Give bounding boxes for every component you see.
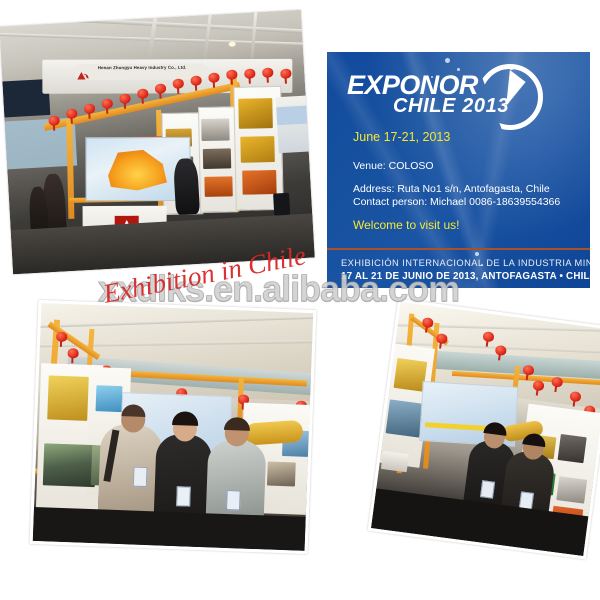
- photo-booth-overview[interactable]: Henan Zhongyu Heavy Industry Co., Ltd.: [0, 10, 315, 274]
- product-image: [238, 98, 273, 129]
- product-roller-image: [244, 420, 303, 446]
- collage-canvas: Henan Zhongyu Heavy Industry Co., Ltd.: [0, 0, 600, 600]
- product-image: [556, 476, 587, 503]
- photo3-scene: [371, 302, 600, 556]
- screen-graphic: [102, 148, 172, 192]
- literature-stack: [381, 451, 409, 472]
- banner-sparkle: [475, 252, 479, 256]
- logo-arrow-dot-icon: [509, 65, 514, 70]
- banner-venue: Venue: COLOSO: [353, 160, 434, 172]
- badge-lanyard: [133, 467, 148, 487]
- red-lantern: [56, 332, 67, 342]
- product-image: [201, 118, 229, 141]
- company-logo-icon: [76, 69, 90, 81]
- product-image: [96, 385, 123, 412]
- banner-contact-person: Contact person: Michael 0086-18639554366: [353, 196, 560, 209]
- photo-group-visitors[interactable]: [30, 300, 317, 554]
- banner-contact-block: Address: Ruta No1 s/n, Antofagasta, Chil…: [353, 183, 560, 209]
- banner-address: Address: Ruta No1 s/n, Antofagasta, Chil…: [353, 183, 560, 196]
- banner-date: June 17-21, 2013: [353, 130, 450, 144]
- booth-sign-text: Henan Zhongyu Heavy Industry Co., Ltd.: [98, 65, 214, 70]
- product-image: [240, 136, 275, 163]
- product-image: [386, 399, 424, 437]
- logo-text-chile-2013: CHILE 2013: [393, 95, 509, 118]
- product-image: [47, 375, 89, 420]
- product-image: [558, 434, 587, 463]
- badge-lanyard: [176, 486, 191, 506]
- hall-banner-far: [276, 106, 309, 126]
- exponor-logo: EXPONOR CHILE 2013: [347, 62, 547, 124]
- badge-lanyard: [226, 490, 241, 510]
- photo2-scene: [33, 303, 314, 551]
- product-image: [203, 148, 231, 169]
- photo1-scene: Henan Zhongyu Heavy Industry Co., Ltd.: [0, 10, 315, 274]
- trash-bin: [273, 193, 290, 216]
- product-image: [204, 176, 232, 197]
- product-image: [43, 443, 97, 487]
- product-image: [242, 170, 276, 195]
- badge-lanyard: [480, 480, 495, 499]
- red-lantern: [67, 348, 78, 358]
- product-image: [267, 461, 296, 486]
- photo-booth-visitors[interactable]: [368, 299, 600, 560]
